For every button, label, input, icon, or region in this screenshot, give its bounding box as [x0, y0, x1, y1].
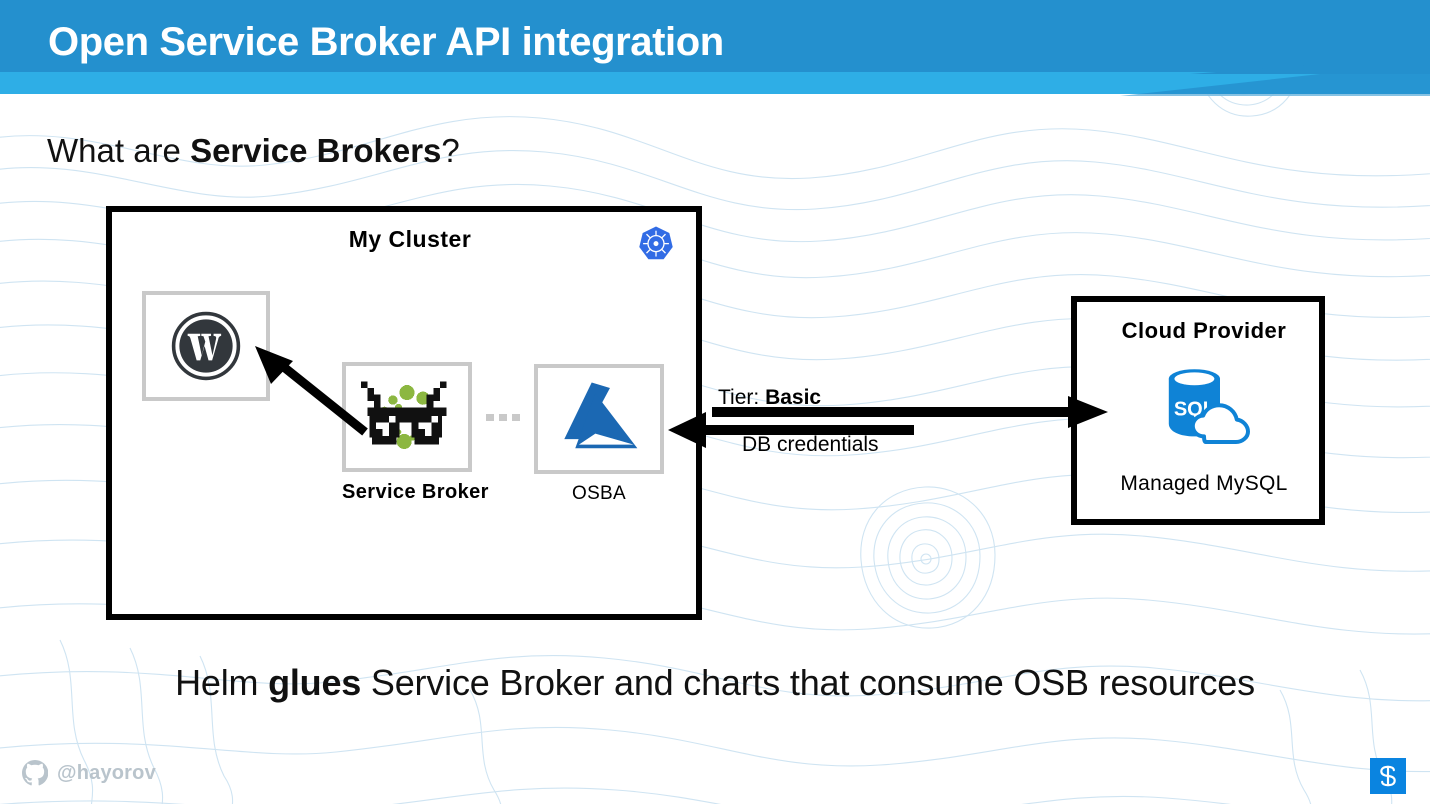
kubernetes-icon	[637, 225, 675, 263]
managed-mysql-label: Managed MySQL	[1077, 472, 1331, 496]
broker-osba-dotted-connector	[486, 414, 530, 422]
page-title: Open Service Broker API integration	[48, 16, 724, 68]
caption-emphasis: glues	[268, 662, 361, 703]
service-broker-label: Service Broker	[342, 481, 472, 504]
cloud-provider-title: Cloud Provider	[1077, 318, 1331, 344]
caption-suffix: Service Broker and charts that consume O…	[361, 662, 1255, 703]
wordpress-icon	[170, 310, 242, 382]
subtitle-question: What are Service Brokers?	[47, 130, 460, 172]
azure-sql-database-icon: SQL	[1077, 358, 1331, 454]
slide-caption: Helm glues Service Broker and charts tha…	[0, 662, 1430, 704]
tier-label-prefix: Tier:	[718, 386, 765, 409]
subtitle-prefix: What are	[47, 132, 190, 169]
brand-badge[interactable]	[1370, 758, 1406, 794]
caption-prefix: Helm	[175, 662, 268, 703]
arrow-broker-to-wordpress	[245, 340, 375, 440]
subtitle-emphasis: Service Brokers	[190, 132, 441, 169]
osba-tile	[534, 364, 664, 474]
github-handle[interactable]: @hayorov	[22, 760, 156, 786]
slide: Open Service Broker API integration What…	[0, 0, 1430, 804]
s-logo-icon	[1373, 761, 1403, 791]
github-handle-text: @hayorov	[57, 762, 156, 785]
github-icon	[22, 760, 48, 786]
osba-label: OSBA	[534, 483, 664, 505]
tier-label: Tier: Basic	[718, 386, 821, 410]
cloud-provider-box: Cloud Provider SQL Managed MySQL	[1071, 296, 1325, 525]
azure-icon	[553, 377, 645, 461]
subtitle-suffix: ?	[441, 132, 459, 169]
tier-label-value: Basic	[765, 386, 821, 409]
cluster-title: My Cluster	[112, 226, 708, 253]
db-credentials-label: DB credentials	[742, 433, 879, 457]
